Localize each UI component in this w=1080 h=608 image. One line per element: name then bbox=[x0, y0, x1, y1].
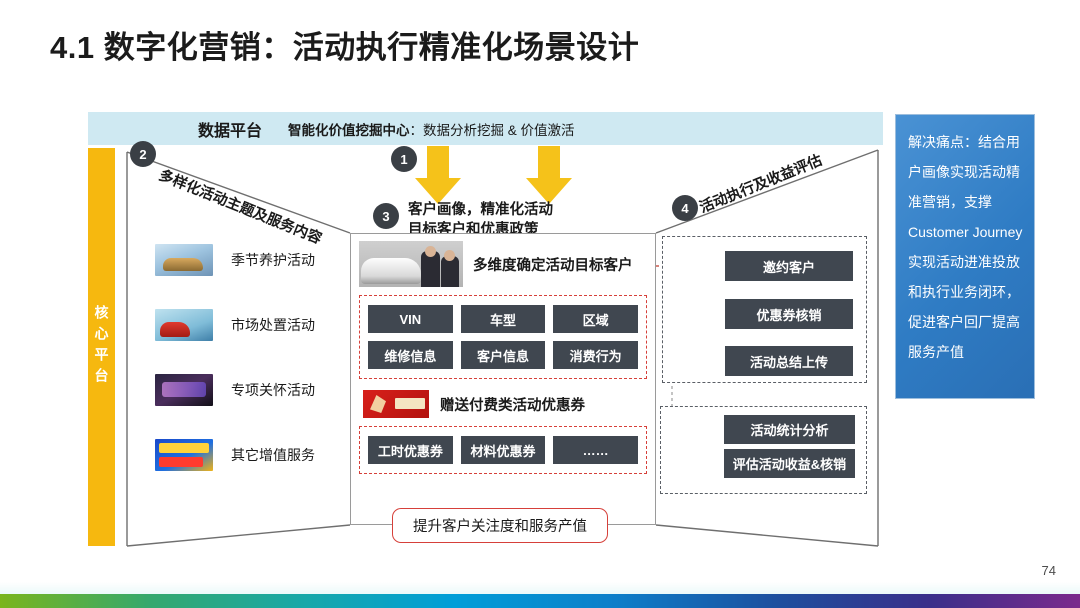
banner-center-detail: ：数据分析挖掘 & 价值激活 bbox=[410, 123, 575, 138]
step-badge-3: 3 bbox=[373, 203, 399, 229]
center-heading-line1: 客户画像，精准化活动 bbox=[408, 200, 553, 220]
list-item-label: 市场处置活动 bbox=[231, 315, 315, 335]
customer-portrait-photo-icon bbox=[359, 241, 463, 287]
data-platform-banner: 数据平台 智能化价值挖掘中心：数据分析挖掘 & 价值激活 bbox=[88, 112, 883, 145]
banner-center-strong: 智能化价值挖掘中心 bbox=[288, 123, 410, 138]
slide-root: 4.1 数字化营销：活动执行精准化场景设计 bbox=[0, 0, 1080, 608]
banner-platform-label: 数据平台 bbox=[198, 117, 262, 141]
core-platform-label: 核心平台 bbox=[95, 305, 109, 389]
list-item: 其它增值服务 bbox=[155, 435, 345, 475]
step-badge-4: 4 bbox=[672, 195, 698, 221]
night-event-thumbnail-icon bbox=[155, 374, 213, 406]
pain-point-panel: 解决痛点：结合用户画像实现活动精准营销，支撑Customer Journey实现… bbox=[895, 114, 1035, 399]
portrait-row: 多维度确定活动目标客户 bbox=[351, 234, 655, 287]
step-badge-2: 2 bbox=[130, 141, 156, 167]
core-platform-bar: 核心平台 bbox=[88, 148, 115, 546]
profile-tag-grid: VIN 车型 区域 维修信息 客户信息 消费行为 bbox=[368, 305, 638, 369]
step-badge-1: 1 bbox=[391, 146, 417, 172]
list-item-label: 其它增值服务 bbox=[231, 445, 315, 465]
activity-theme-list: 季节养护活动 市场处置活动 专项关怀活动 其它增值服务 bbox=[155, 240, 345, 500]
customer-profile-panel: 多维度确定活动目标客户 VIN 车型 区域 维修信息 客户信息 消费行为 赠送付… bbox=[350, 233, 656, 525]
list-item-label: 专项关怀活动 bbox=[231, 380, 315, 400]
profile-tag[interactable]: 车型 bbox=[461, 305, 546, 333]
execution-action-box[interactable]: 活动总结上传 bbox=[725, 346, 853, 376]
coupon-row: 赠送付费类活动优惠券 bbox=[351, 379, 655, 418]
coupon-tag[interactable]: 工时优惠券 bbox=[368, 436, 453, 464]
evaluation-action-box[interactable]: 评估活动收益&核销 bbox=[724, 449, 855, 478]
promo-banner-thumbnail-icon bbox=[155, 439, 213, 471]
red-car-thumbnail-icon bbox=[155, 309, 213, 341]
value-callout: 提升客户关注度和服务产值 bbox=[392, 508, 608, 543]
profile-tag[interactable]: 消费行为 bbox=[553, 341, 638, 369]
profile-tags-group: VIN 车型 区域 维修信息 客户信息 消费行为 bbox=[359, 295, 647, 379]
coupon-tag[interactable]: …… bbox=[553, 436, 638, 464]
profile-tag[interactable]: VIN bbox=[368, 305, 453, 333]
coupon-promo-thumbnail-icon bbox=[363, 390, 429, 418]
list-item: 专项关怀活动 bbox=[155, 370, 345, 410]
coupon-row-label: 赠送付费类活动优惠券 bbox=[440, 394, 585, 415]
portrait-row-label: 多维度确定活动目标客户 bbox=[473, 254, 633, 275]
list-item: 季节养护活动 bbox=[155, 240, 345, 280]
execution-action-box[interactable]: 优惠券核销 bbox=[725, 299, 853, 329]
page-number: 74 bbox=[1042, 563, 1056, 578]
profile-tag[interactable]: 维修信息 bbox=[368, 341, 453, 369]
list-item-label: 季节养护活动 bbox=[231, 250, 315, 270]
banner-center-label: 智能化价值挖掘中心：数据分析挖掘 & 价值激活 bbox=[288, 119, 575, 139]
bottom-fade-decoration bbox=[0, 582, 1080, 594]
profile-tag[interactable]: 区域 bbox=[553, 305, 638, 333]
coupon-tag-grid: 工时优惠券 材料优惠券 …… bbox=[368, 436, 638, 464]
evaluation-action-box[interactable]: 活动统计分析 bbox=[724, 415, 855, 444]
car-winter-thumbnail-icon bbox=[155, 244, 213, 276]
coupon-tag[interactable]: 材料优惠券 bbox=[461, 436, 546, 464]
profile-tag[interactable]: 客户信息 bbox=[461, 341, 546, 369]
list-item: 市场处置活动 bbox=[155, 305, 345, 345]
bottom-gradient-bar bbox=[0, 594, 1080, 608]
execution-action-box[interactable]: 邀约客户 bbox=[725, 251, 853, 281]
coupon-tags-group: 工时优惠券 材料优惠券 …… bbox=[359, 426, 647, 474]
